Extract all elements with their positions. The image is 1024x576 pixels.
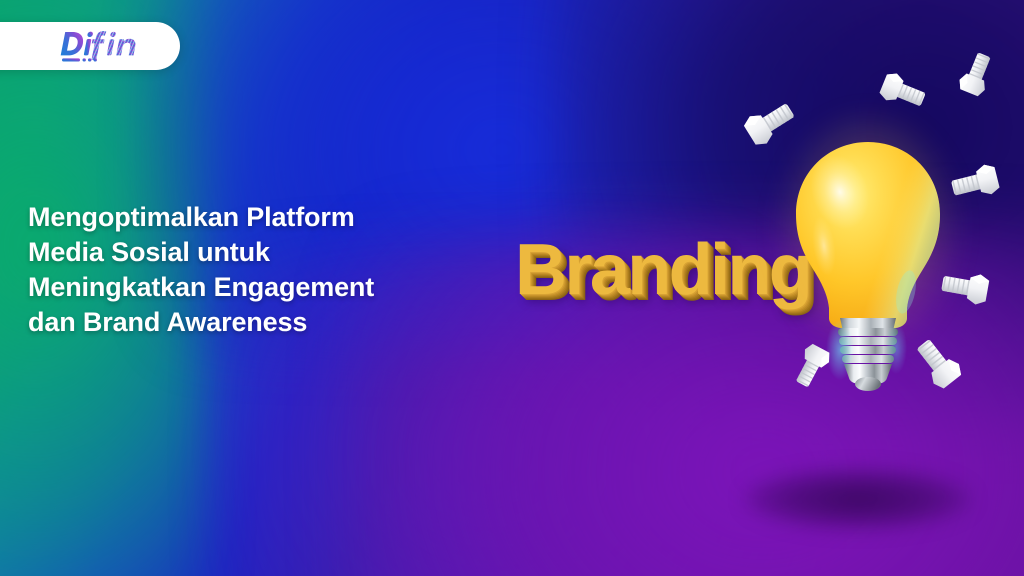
branding-banner: Difin Mengoptimalkan Platform Media Sosi…	[0, 0, 1024, 576]
headline-line-1: Mengoptimalkan Platform	[28, 202, 355, 232]
difin-wordmark-logo	[50, 28, 154, 64]
brand-logo-pill[interactable]: Difin	[0, 22, 180, 70]
headline-line-3: Meningkatkan Engagement	[28, 272, 374, 302]
headline-line-2: Media Sosial untuk	[28, 237, 270, 267]
lightbulb-illustration	[700, 60, 1024, 530]
headline-line-4: dan Brand Awareness	[28, 307, 307, 337]
page-title: Mengoptimalkan Platform Media Sosial unt…	[28, 200, 528, 340]
